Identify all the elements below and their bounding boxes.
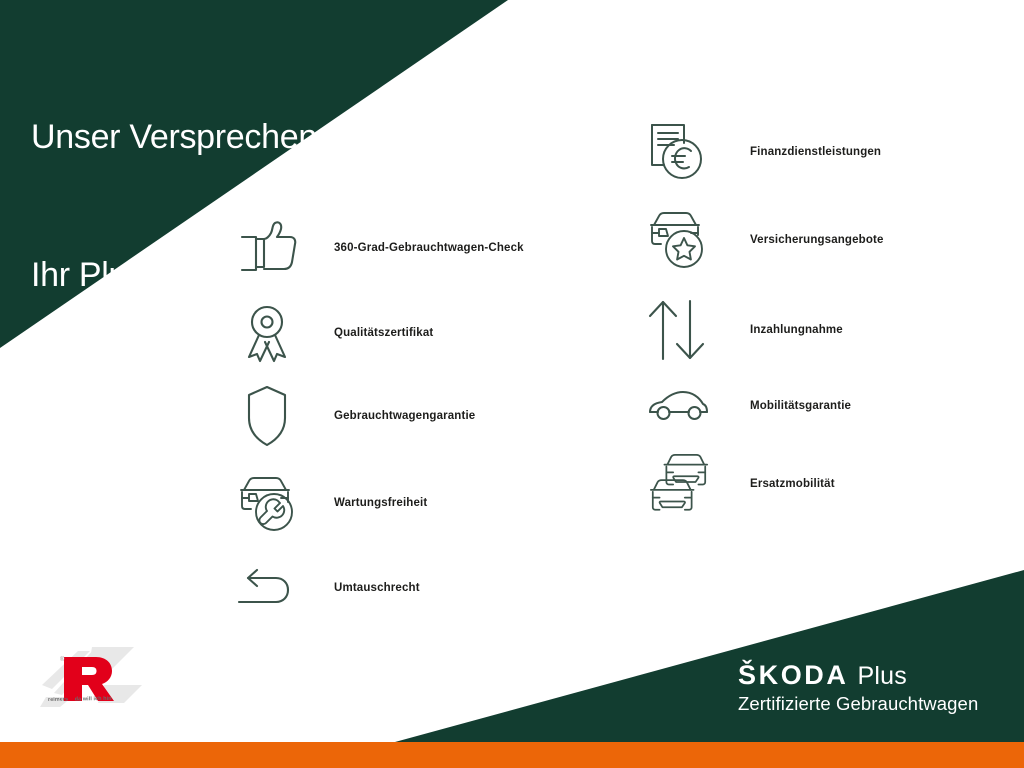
dealer-tagline-text: da will ich hin — [75, 696, 112, 703]
feature-label: Gebrauchtwagengarantie — [334, 410, 475, 422]
feature-item-360-check: 360-Grad-Gebrauchtwagen-Check — [236, 208, 524, 288]
logo-monogram — [64, 657, 114, 701]
dealer-name: reimers — [48, 697, 68, 703]
up-down-arrows-icon — [646, 299, 712, 361]
feature-label: Mobilitätsgarantie — [750, 400, 851, 412]
feature-item-mobility-guarantee: Mobilitätsgarantie — [646, 366, 851, 446]
feature-label: Ersatzmobilität — [750, 478, 835, 490]
dealer-logo: ® — [38, 645, 158, 717]
feature-item-replacement-mobility: Ersatzmobilität — [646, 444, 835, 524]
feature-item-maintenance-free: Wartungsfreiheit — [236, 463, 427, 543]
skoda-plus-label: Plus — [858, 662, 907, 691]
feature-item-warranty: Gebrauchtwagengarantie — [236, 376, 475, 456]
feature-item-trade-in: Inzahlungnahme — [646, 290, 843, 370]
skoda-wordmark: ŠKODA — [738, 660, 849, 691]
feature-label: Inzahlungnahme — [750, 324, 843, 336]
car-star-icon — [646, 209, 712, 271]
document-euro-icon — [646, 121, 712, 183]
feature-label: Wartungsfreiheit — [334, 497, 427, 509]
feature-label: Qualitätszertifikat — [334, 327, 433, 339]
feature-item-insurance: Versicherungsangebote — [646, 200, 884, 280]
headline-line-1: Unser Versprechen. — [31, 114, 326, 160]
two-cars-icon — [646, 453, 712, 515]
skoda-wordmark-row: ŠKODA Plus — [738, 660, 978, 691]
feature-label: Finanzdienstleistungen — [750, 146, 881, 158]
thumbs-up-icon — [236, 217, 302, 279]
car-wrench-icon — [236, 472, 302, 534]
car-side-icon — [646, 375, 712, 437]
skoda-plus-branding: ŠKODA Plus Zertifizierte Gebrauchtwagen — [738, 660, 978, 715]
promo-banner: Unser Versprechen. Ihr Plus. 360-Grad-Ge… — [0, 0, 1024, 768]
feature-item-financial-services: Finanzdienstleistungen — [646, 112, 881, 192]
feature-label: 360-Grad-Gebrauchtwagen-Check — [334, 242, 524, 254]
orange-bottom-bar — [0, 742, 1024, 768]
shield-icon — [236, 385, 302, 447]
return-arrow-icon — [236, 557, 302, 619]
feature-item-quality-certificate: Qualitätszertifikat — [236, 293, 433, 373]
feature-item-return-right: Umtauschrecht — [236, 548, 420, 628]
rosette-award-icon — [236, 302, 302, 364]
registered-trademark-icon: ® — [60, 656, 65, 663]
skoda-subtitle: Zertifizierte Gebrauchtwagen — [738, 693, 978, 715]
feature-label: Versicherungsangebote — [750, 234, 884, 246]
dealer-tagline: reimers ● da will ich hin — [48, 696, 112, 703]
feature-label: Umtauschrecht — [334, 582, 420, 594]
